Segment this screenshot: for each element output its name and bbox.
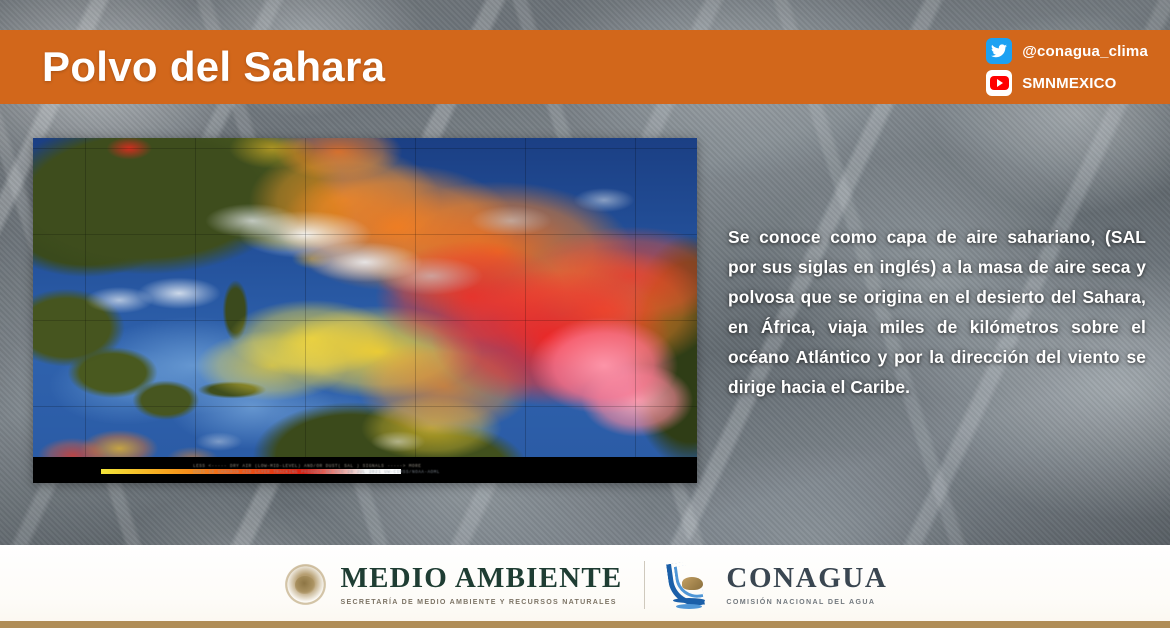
brand-subtitle-conagua: COMISIÓN NACIONAL DEL AGUA bbox=[726, 598, 887, 606]
social-link-twitter[interactable]: @conagua_clima bbox=[986, 38, 1148, 64]
mexican-national-seal-icon bbox=[283, 562, 328, 607]
youtube-icon bbox=[986, 70, 1012, 96]
youtube-handle: SMNMEXICO bbox=[1022, 75, 1116, 92]
title-banner: Polvo del Sahara @conagua_clima SMNMEXIC… bbox=[0, 30, 1170, 104]
page-title: Polvo del Sahara bbox=[42, 43, 385, 91]
conagua-water-eagle-icon bbox=[667, 560, 713, 610]
map-graticule bbox=[33, 138, 697, 483]
twitter-icon bbox=[986, 38, 1012, 64]
brand-title-conagua: CONAGUA bbox=[726, 563, 887, 593]
social-links: @conagua_clima SMNMEXICO bbox=[986, 38, 1148, 96]
description-text: Se conoce como capa de aire sahariano, (… bbox=[728, 222, 1146, 402]
map-caption-strip: LESS <----- DRY AIR (LOW-MID-LEVEL) AND/… bbox=[33, 457, 697, 483]
brand-title-medio-ambiente: MEDIO AMBIENTE bbox=[341, 563, 623, 593]
map-caption-line-2: GOES-16 SAHARAN AIR LAYER TRACKING PRODU… bbox=[193, 470, 697, 476]
saharan-dust-satellite-map: LESS <----- DRY AIR (LOW-MID-LEVEL) AND/… bbox=[33, 138, 697, 483]
footer-divider bbox=[644, 561, 645, 609]
brand-subtitle-medio-ambiente: SECRETARÍA DE MEDIO AMBIENTE Y RECURSOS … bbox=[341, 598, 623, 606]
brand-medio-ambiente: MEDIO AMBIENTE SECRETARÍA DE MEDIO AMBIE… bbox=[283, 562, 623, 607]
brand-conagua: CONAGUA COMISIÓN NACIONAL DEL AGUA bbox=[667, 560, 887, 610]
social-link-youtube[interactable]: SMNMEXICO bbox=[986, 70, 1116, 96]
footer-accent-bar bbox=[0, 621, 1170, 628]
slide-root: Polvo del Sahara @conagua_clima SMNMEXIC… bbox=[0, 0, 1170, 628]
twitter-handle: @conagua_clima bbox=[1022, 43, 1148, 60]
footer-bar: MEDIO AMBIENTE SECRETARÍA DE MEDIO AMBIE… bbox=[0, 545, 1170, 628]
